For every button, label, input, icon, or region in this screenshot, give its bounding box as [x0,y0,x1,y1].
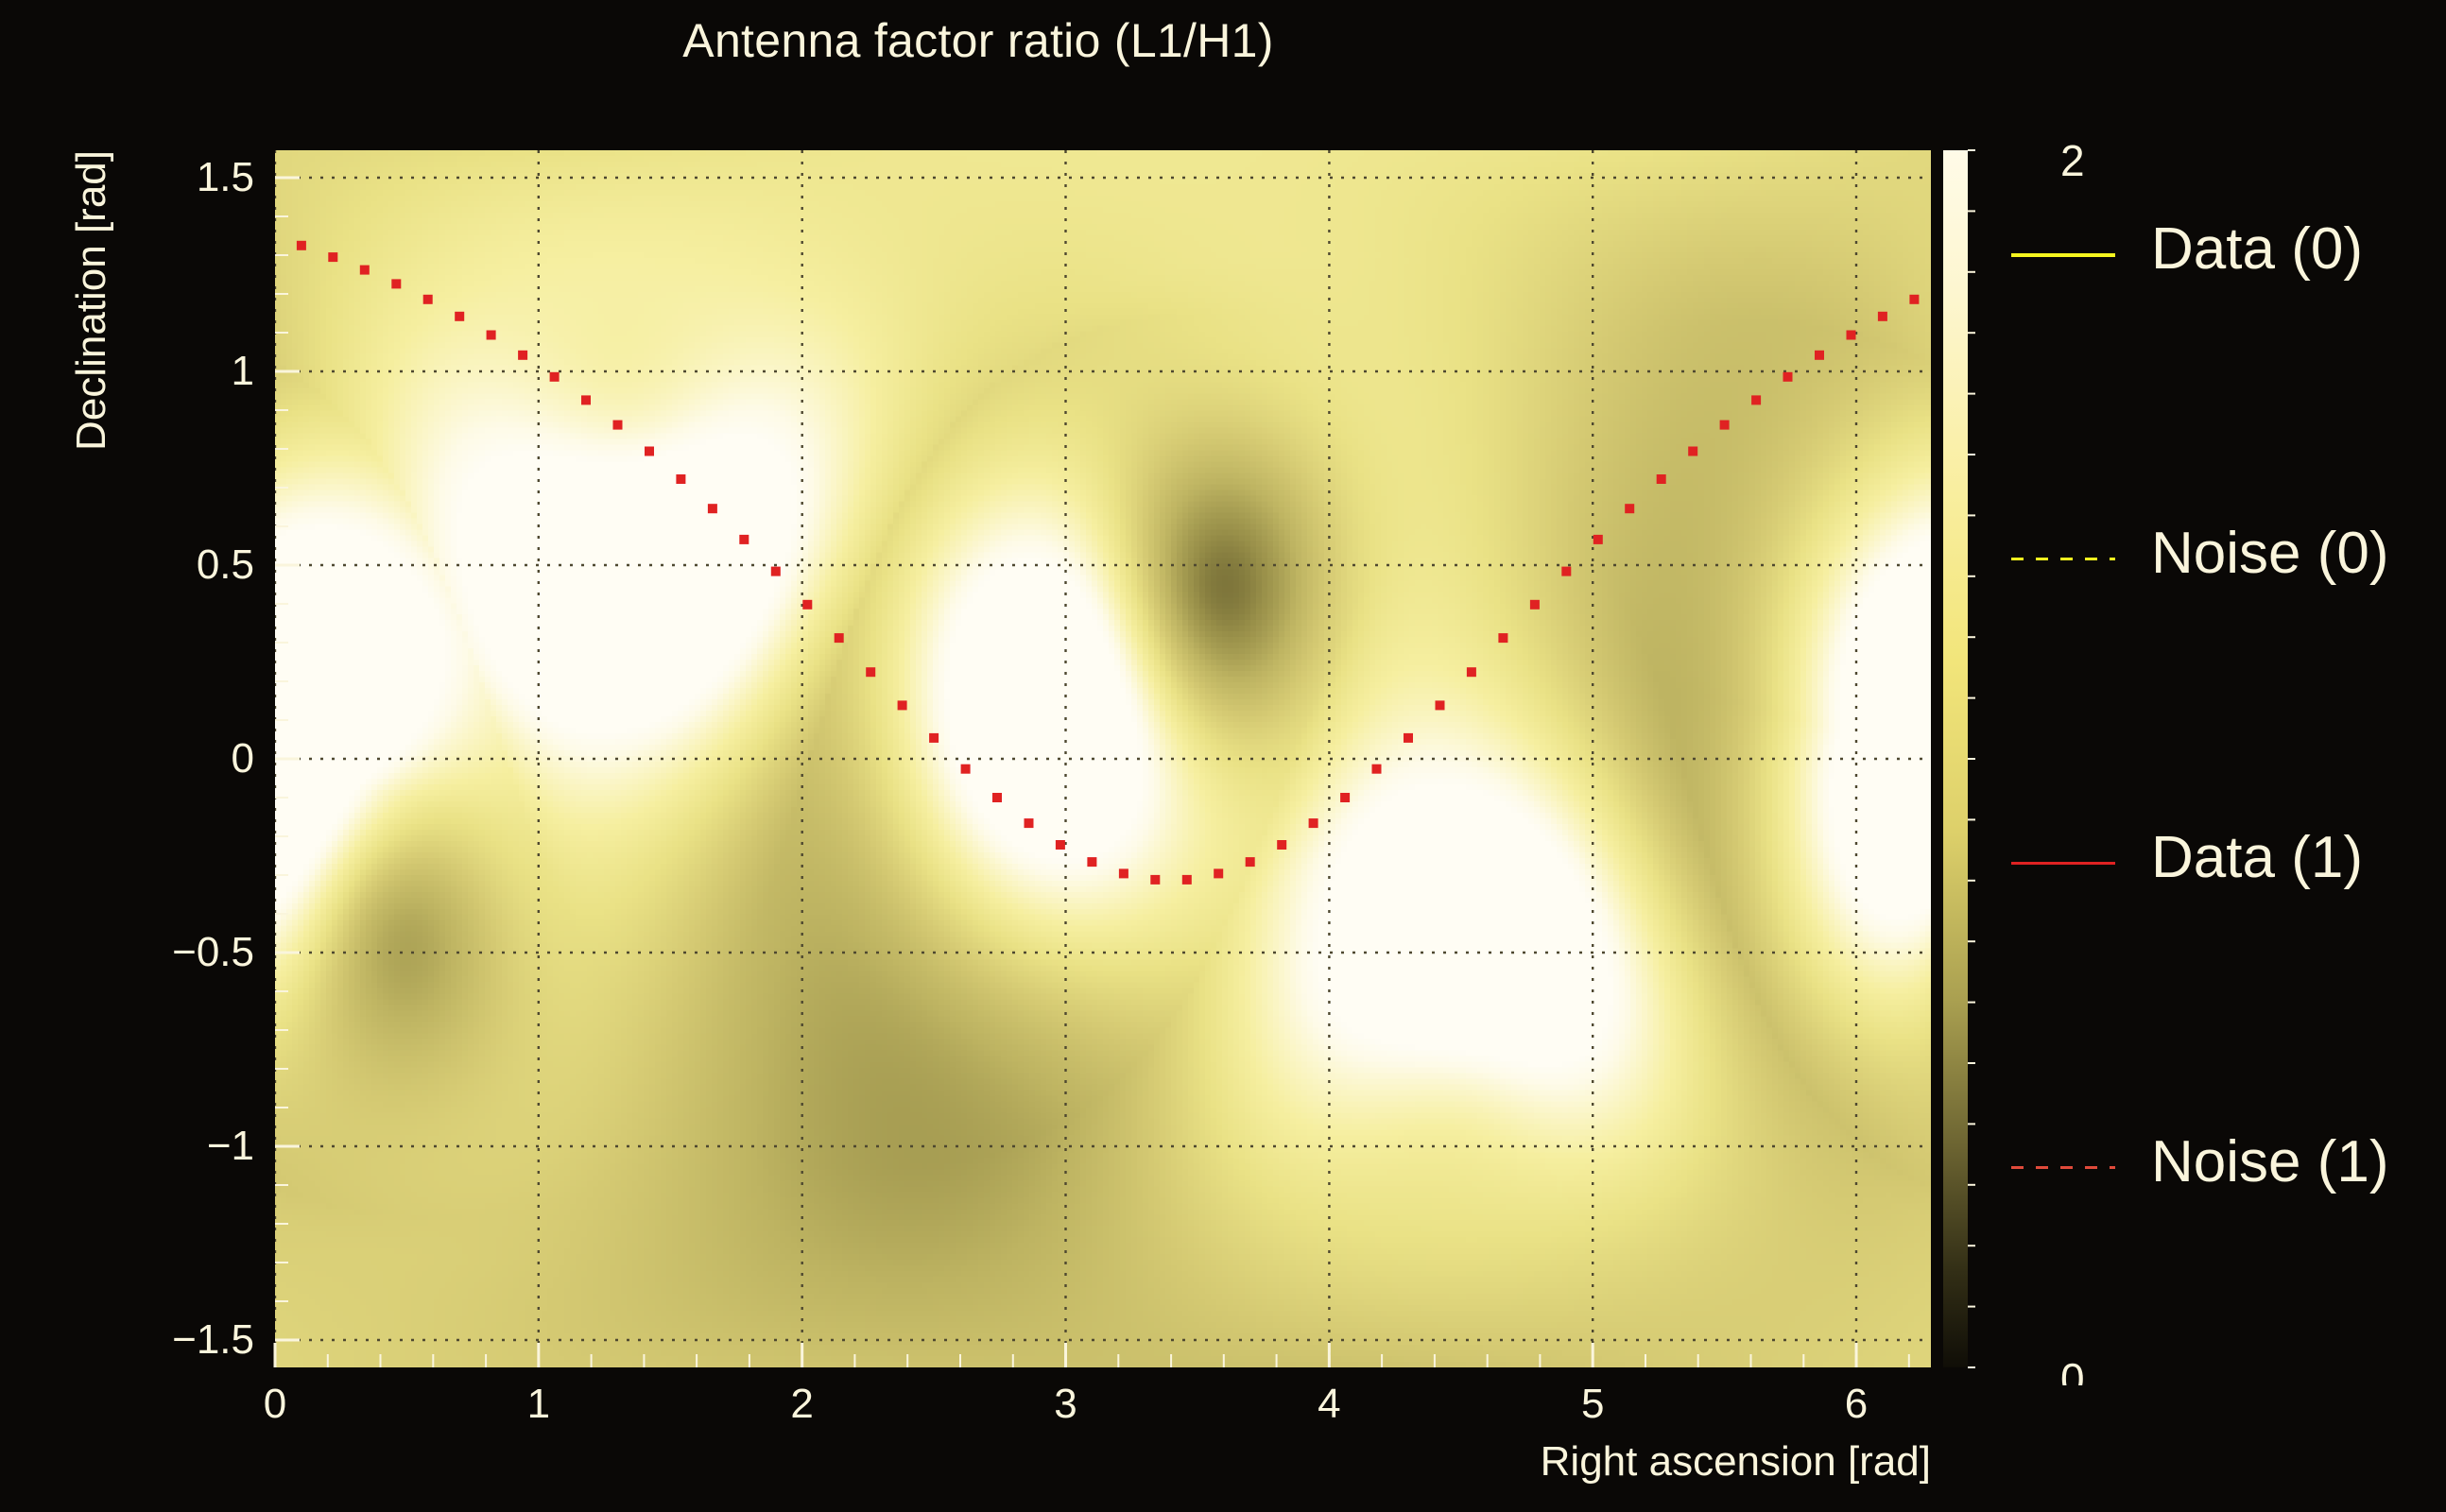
x-tick-label: 1 [527,1381,550,1428]
y-tick-label: −1.5 [0,1316,254,1364]
legend-entry-data-0[interactable]: Data (0) [2011,215,2446,520]
x-tick-label: 0 [264,1381,286,1428]
page-title: Antenna factor ratio (L1/H1) [0,13,1956,68]
legend-label: Noise (0) [2151,520,2389,587]
x-tick-label: 5 [1581,1381,1604,1428]
x-tick-label: 4 [1318,1381,1340,1428]
legend-label: Noise (1) [2151,1128,2389,1195]
x-tick-label: 3 [1054,1381,1077,1428]
colorbar [1943,150,1968,1367]
legend: Data (0) Noise (0) Data (1) Noise (1) [2011,215,2446,1433]
colorbar-max-label: 2 [2060,140,2085,181]
y-tick-label: 1.5 [0,154,254,201]
line-dashed-yellow-icon [2011,558,2115,560]
noise-curve-overlay [275,150,1931,1367]
legend-entry-noise-0[interactable]: Noise (0) [2011,520,2446,824]
line-dashed-red-icon [2011,1166,2115,1169]
y-tick-label: −1 [0,1123,254,1170]
y-tick-label: 1 [0,348,254,395]
y-tick-label: −0.5 [0,929,254,976]
line-solid-red-icon [2011,862,2115,865]
plot-canvas: Antenna factor ratio (L1/H1) Right ascen… [0,0,2446,1512]
legend-entry-noise-1[interactable]: Noise (1) [2011,1128,2446,1433]
legend-label: Data (0) [2151,215,2363,283]
x-axis-title: Right ascension [rad] [1541,1438,1931,1486]
heatmap-plot-area[interactable] [275,150,1931,1367]
y-tick-label: 0.5 [0,541,254,589]
x-tick-label: 2 [790,1381,813,1428]
legend-label: Data (1) [2151,824,2363,891]
legend-entry-data-1[interactable]: Data (1) [2011,824,2446,1128]
y-tick-label: 0 [0,735,254,782]
x-tick-label: 6 [1845,1381,1868,1428]
line-solid-yellow-icon [2011,253,2115,257]
